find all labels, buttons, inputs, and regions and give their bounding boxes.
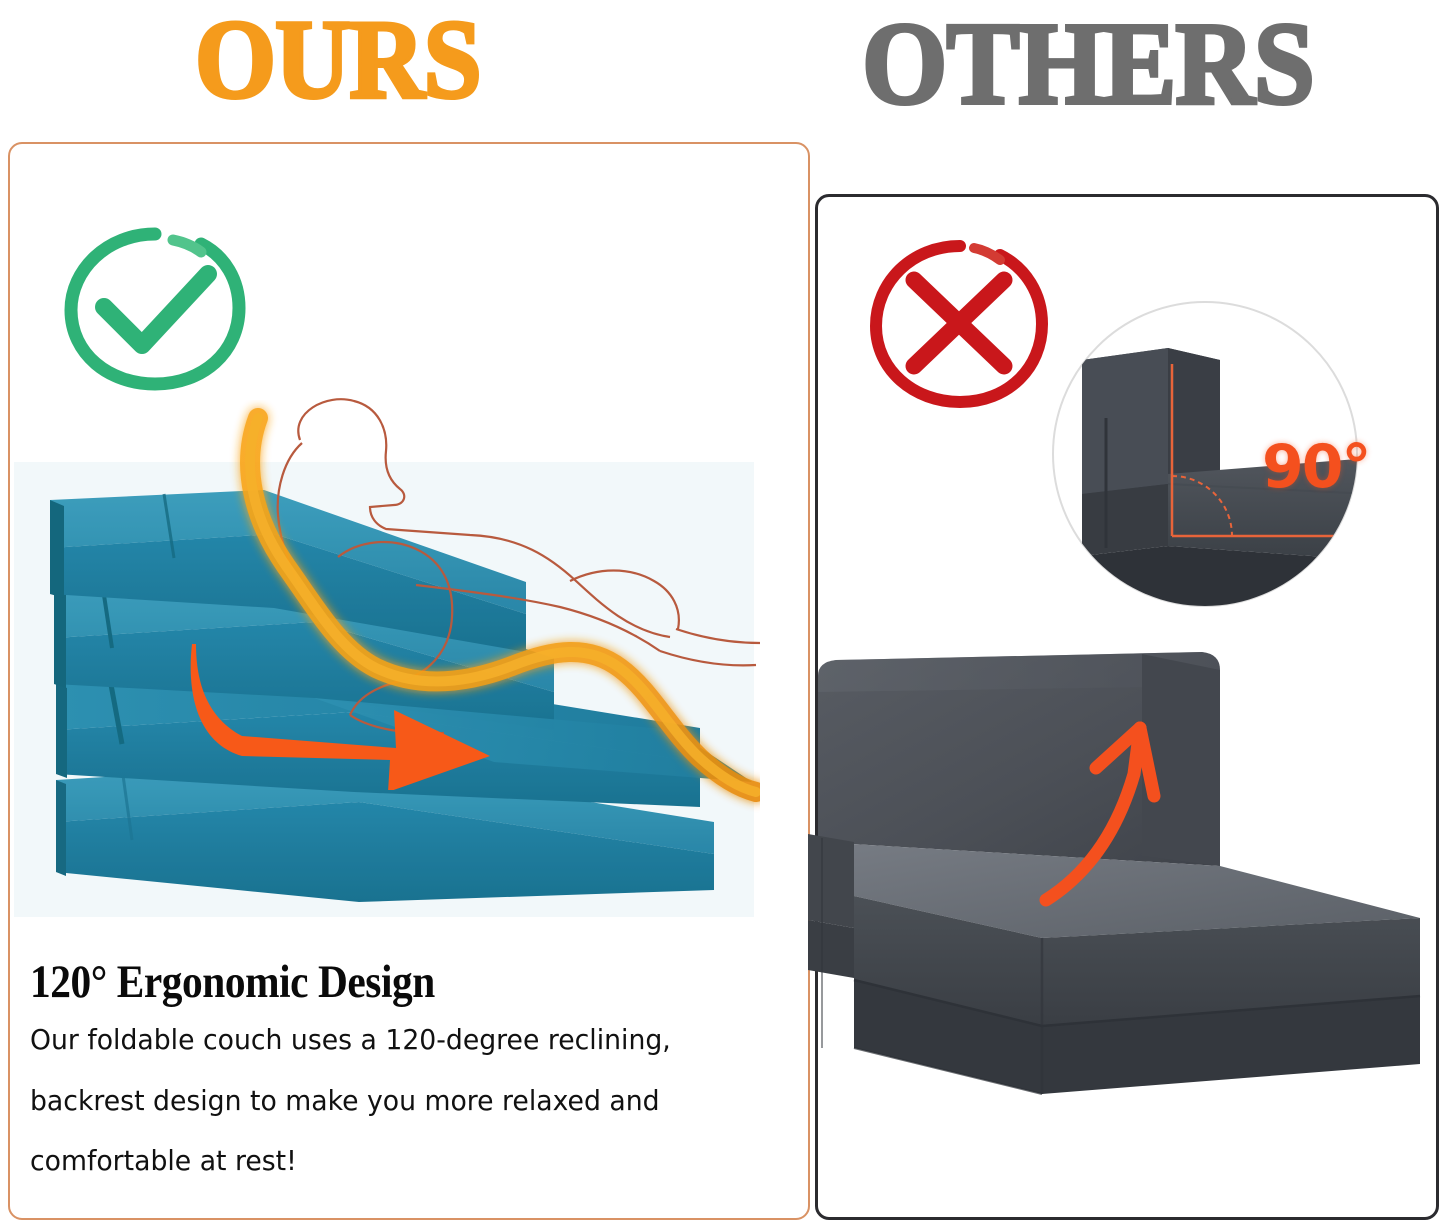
orange-upright-arrow-icon xyxy=(1030,712,1210,912)
ours-heading: OURS xyxy=(195,0,481,125)
ours-caption-block: 120° Ergonomic Design Our foldable couch… xyxy=(30,955,790,1209)
caption-line-2: backrest design to make you more relaxed… xyxy=(30,1088,767,1116)
caption-line-1: Our foldable couch uses a 120-degree rec… xyxy=(30,1027,767,1055)
red-x-circle-icon xyxy=(862,232,1057,417)
others-heading: OTHERS xyxy=(862,0,1314,132)
green-check-circle-icon xyxy=(55,218,255,398)
caption-line-3: comfortable at rest! xyxy=(30,1148,767,1176)
angle-label: 90° xyxy=(1262,432,1370,502)
teal-folding-couch-image xyxy=(14,462,754,917)
caption-title: 120° Ergonomic Design xyxy=(30,955,699,1009)
